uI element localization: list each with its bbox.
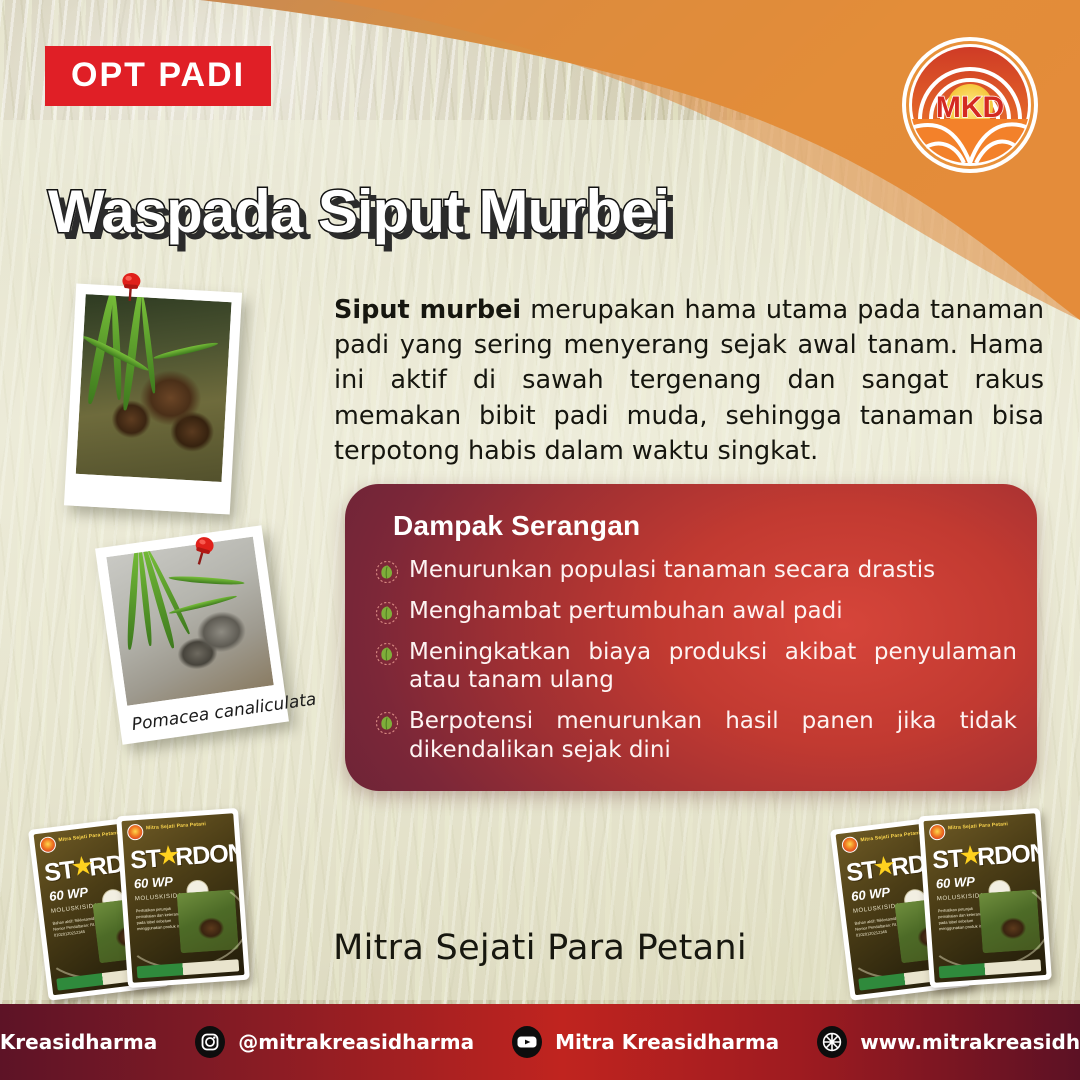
pack-logo-icon bbox=[39, 836, 57, 854]
pack-slogan: Mitra Sejati Para Petani bbox=[58, 830, 118, 843]
category-badge: OPT PADI bbox=[45, 46, 271, 106]
page-title: Waspada Siput Murbei bbox=[48, 182, 669, 242]
photo-card-snails bbox=[64, 284, 242, 515]
pack-slogan: Mitra Sejati Para Petani bbox=[948, 821, 1008, 831]
footer-item-label: Mitra Kreasidharma bbox=[555, 1030, 779, 1054]
poster-canvas: OPT PADI bbox=[0, 0, 1080, 1080]
pack-brand: STARDON bbox=[129, 839, 244, 876]
impact-list: Menurunkan populasi tanaman secara drast… bbox=[375, 556, 1019, 777]
intro-paragraph: Siput murbei merupakan hama utama pada t… bbox=[334, 293, 1044, 469]
product-pack-group-left: Mitra Sejati Para Petani STARDON ★ 60 WP… bbox=[38, 808, 288, 998]
impact-list-item-label: Menurunkan populasi tanaman secara drast… bbox=[409, 556, 1017, 585]
footer-bar: Mitra Kreasidharma @mitrakreasidharma bbox=[0, 1004, 1080, 1080]
footer-item-label: @mitrakreasidharma bbox=[238, 1030, 474, 1054]
product-pack-group-right: Mitra Sejati Para Petani STARDON ★ 60 WP… bbox=[840, 808, 1080, 998]
pack-slogan: Mitra Sejati Para Petani bbox=[860, 830, 920, 843]
website-icon[interactable] bbox=[815, 1025, 849, 1059]
star-icon: ★ bbox=[958, 841, 980, 868]
star-icon: ★ bbox=[156, 841, 178, 868]
footer-item-label: Mitra Kreasidharma bbox=[0, 1030, 157, 1054]
pack-logo-icon bbox=[929, 824, 946, 841]
impact-panel: Dampak Serangan Menurunkan populasi tana… bbox=[345, 484, 1037, 791]
impact-panel-title: Dampak Serangan bbox=[393, 510, 640, 542]
photo-snails-in-paddy bbox=[76, 294, 232, 482]
mkd-logo-text: MKD bbox=[936, 91, 1004, 124]
footer-item-youtube[interactable]: Mitra Kreasidharma bbox=[492, 1025, 797, 1059]
pack-brand: STARDON bbox=[931, 839, 1046, 876]
impact-list-item-label: Menghambat pertumbuhan awal padi bbox=[409, 597, 1017, 626]
impact-list-item: Menurunkan populasi tanaman secara drast… bbox=[375, 556, 1019, 585]
leaf-bullet-icon bbox=[375, 601, 399, 625]
youtube-icon[interactable] bbox=[510, 1025, 544, 1059]
star-icon: ★ bbox=[69, 852, 92, 880]
footer-item-website[interactable]: www.mitrakreasidharma.com bbox=[797, 1025, 1080, 1059]
category-badge-label: OPT PADI bbox=[71, 56, 245, 94]
pack-logo-icon bbox=[841, 836, 859, 854]
instagram-icon[interactable] bbox=[193, 1025, 227, 1059]
impact-list-item: Menghambat pertumbuhan awal padi bbox=[375, 597, 1019, 626]
impact-list-item-label: Berpotensi menurunkan hasil panen jika t… bbox=[409, 707, 1017, 765]
impact-list-item: Meningkatkan biaya produksi akibat penyu… bbox=[375, 638, 1019, 696]
leaf-bullet-icon bbox=[375, 642, 399, 666]
footer-item-facebook[interactable]: Mitra Kreasidharma bbox=[0, 1025, 175, 1059]
mkd-logo: MKD bbox=[900, 35, 1040, 175]
leaf-bullet-icon bbox=[375, 711, 399, 735]
impact-list-item: Berpotensi menurunkan hasil panen jika t… bbox=[375, 707, 1019, 765]
footer-item-label: www.mitrakreasidharma.com bbox=[860, 1030, 1080, 1054]
pack-logo-icon bbox=[127, 824, 144, 841]
footer-item-instagram[interactable]: @mitrakreasidharma bbox=[175, 1025, 492, 1059]
impact-list-item-label: Meningkatkan biaya produksi akibat penyu… bbox=[409, 638, 1017, 696]
pushpin-icon bbox=[117, 271, 145, 303]
leaf-bullet-icon bbox=[375, 560, 399, 584]
star-icon: ★ bbox=[871, 852, 894, 880]
intro-lead: Siput murbei bbox=[334, 295, 521, 325]
pack-slogan: Mitra Sejati Para Petani bbox=[146, 821, 206, 831]
tagline: Mitra Sejati Para Petani bbox=[0, 928, 1080, 968]
